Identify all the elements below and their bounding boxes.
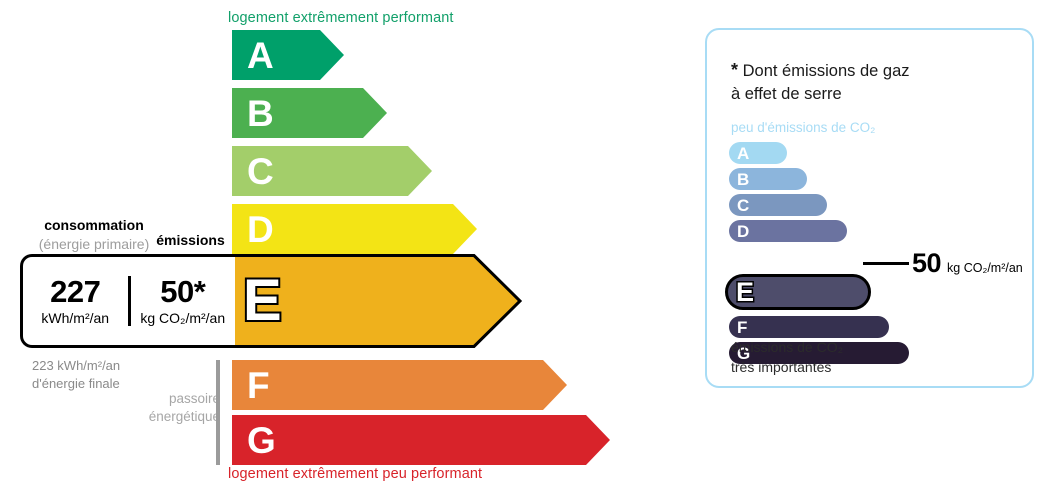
passoire-bracket-line (216, 360, 220, 465)
consumption-header: consommation (énergie primaire) (24, 216, 164, 254)
energy-bar-b[interactable]: B (232, 88, 387, 138)
co2-bar-b[interactable]: B (729, 168, 807, 190)
passoire-note: passoire énergétique (110, 390, 220, 426)
energy-bar-g[interactable]: G (232, 415, 610, 465)
co2-value-unit: kg CO₂/m²/an (947, 261, 1023, 275)
co2-bar-e[interactable]: E (725, 274, 871, 310)
final-energy-label: d'énergie finale (32, 375, 120, 393)
emissions-header: émissions (148, 232, 233, 248)
co2-bar-label-a: A (737, 145, 749, 162)
co2-scale-high-line1: émissions de CO₂ (731, 338, 843, 358)
co2-bar-label-c: C (737, 197, 749, 214)
energy-bar-label-e-text: E (243, 272, 282, 330)
passoire-line1: passoire (110, 390, 220, 408)
energy-bar-label-f: F (247, 360, 270, 410)
asterisk-icon: * (731, 60, 738, 80)
emissions-cell: 50* kg CO₂/m²/an (131, 276, 236, 327)
co2-bar-c[interactable]: C (729, 194, 827, 216)
co2-leader-line (863, 262, 909, 265)
consumption-header-sub: (énergie primaire) (24, 235, 164, 254)
co2-scale-high-line2: très importantes (731, 358, 843, 378)
energy-bar-c[interactable]: C (232, 146, 432, 196)
bar-shape-g (232, 415, 610, 465)
co2-value-number: 50 (912, 248, 941, 279)
co2-title-line2: à effet de serre (731, 85, 842, 103)
emissions-value: 50* (135, 276, 232, 309)
co2-bar-d[interactable]: D (729, 220, 847, 242)
co2-panel-title: * Dont émissions de gaz à effet de serre (731, 58, 910, 106)
co2-bar-f[interactable]: F (729, 316, 889, 338)
energy-bar-label-a: A (247, 30, 274, 80)
co2-bar-a[interactable]: A (729, 142, 787, 164)
energy-bar-label-d: D (247, 204, 274, 254)
energy-bar-label-c: C (247, 146, 274, 196)
caption-worst-performance: logement extrêmement peu performant (228, 466, 482, 482)
emissions-unit: kg CO₂/m²/an (135, 310, 232, 326)
co2-value-annotation: 50 kg CO₂/m²/an (912, 248, 1023, 279)
energy-bar-a[interactable]: A (232, 30, 344, 80)
energy-bar-d[interactable]: D (232, 204, 477, 254)
energy-bar-label-e: E (243, 254, 303, 348)
bar-shape-f (232, 360, 567, 410)
co2-scale-high-label: émissions de CO₂ très importantes (731, 338, 843, 377)
co2-bar-label-f: F (737, 319, 747, 336)
dpe-energy-diagram: logement extrêmement performant A B C D (0, 0, 680, 488)
energy-bar-label-b: B (247, 88, 274, 138)
final-energy-note: 223 kWh/m²/an d'énergie finale (32, 357, 120, 392)
co2-scale-low-label: peu d'émissions de CO₂ (731, 120, 875, 135)
consumption-cell: 227 kWh/m²/an (23, 276, 131, 327)
co2-bar-label-b: B (737, 171, 749, 188)
consumption-emissions-box: 227 kWh/m²/an 50* kg CO₂/m²/an (20, 254, 235, 348)
co2-emissions-panel: * Dont émissions de gaz à effet de serre… (705, 28, 1034, 388)
consumption-unit: kWh/m²/an (27, 310, 124, 326)
final-energy-value: 223 kWh/m²/an (32, 357, 120, 375)
energy-bar-f[interactable]: F (232, 360, 567, 410)
consumption-header-main: consommation (24, 216, 164, 235)
co2-title-line1: Dont émissions de gaz (743, 62, 910, 80)
co2-bar-label-d: D (737, 223, 749, 240)
energy-bar-label-g: G (247, 415, 276, 465)
caption-best-performance: logement extrêmement performant (228, 10, 454, 26)
consumption-value: 227 (27, 276, 124, 309)
co2-bar-label-e: E (736, 279, 754, 306)
passoire-line2: énergétique (110, 408, 220, 426)
